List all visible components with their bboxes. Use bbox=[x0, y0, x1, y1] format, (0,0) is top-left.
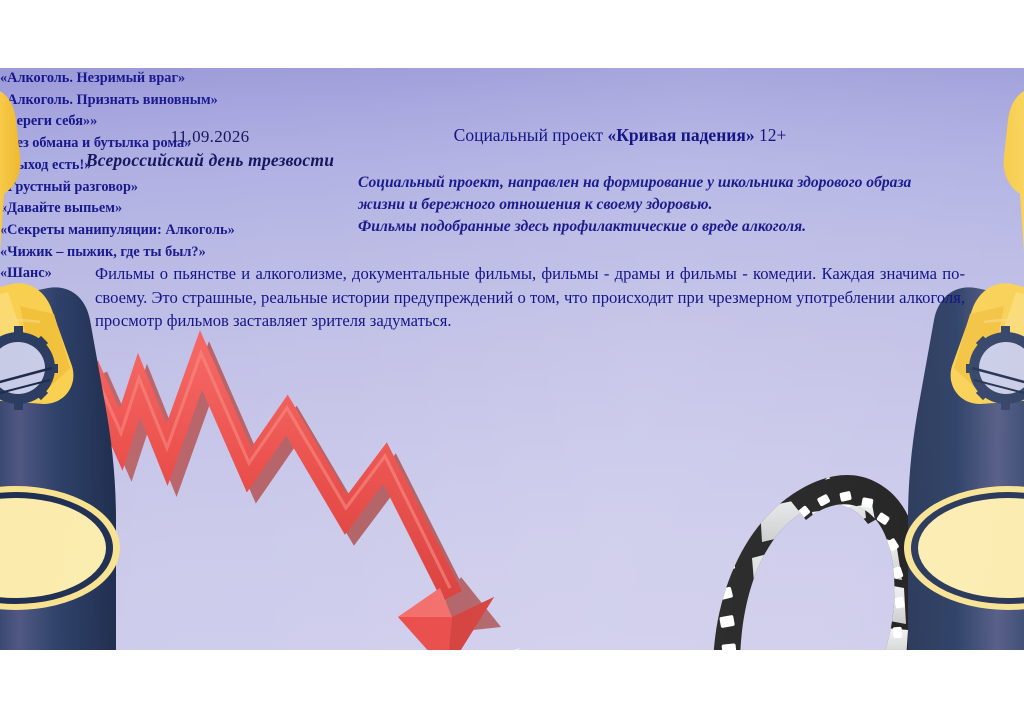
body-paragraph: Фильмы о пьянстве и алкоголизме, докумен… bbox=[95, 262, 965, 333]
slide-canvas: 11.09.2026 Всероссийский день трезвости … bbox=[0, 0, 1024, 724]
project-description-line-1: Социальный проект, направлен на формиров… bbox=[358, 172, 958, 194]
event-date: 11.09.2026 bbox=[60, 127, 360, 147]
project-description-line-3: Фильмы подобранные здесь профилактически… bbox=[358, 216, 958, 238]
page-title-highlight: «Кривая падения» bbox=[607, 125, 754, 145]
date-block: 11.09.2026 Всероссийский день трезвости bbox=[60, 127, 360, 171]
page-title: Социальный проект «Кривая падения» 12+ bbox=[360, 125, 880, 146]
project-description-line-2: жизни и бережного отношения к своему здо… bbox=[358, 194, 958, 216]
presentation-slide: 11.09.2026 Всероссийский день трезвости … bbox=[0, 68, 1024, 650]
project-description: Социальный проект, направлен на формиров… bbox=[358, 172, 958, 238]
event-occasion: Всероссийский день трезвости bbox=[60, 150, 360, 171]
page-title-rating: 12+ bbox=[755, 125, 787, 145]
page-title-prefix: Социальный проект bbox=[454, 125, 608, 145]
